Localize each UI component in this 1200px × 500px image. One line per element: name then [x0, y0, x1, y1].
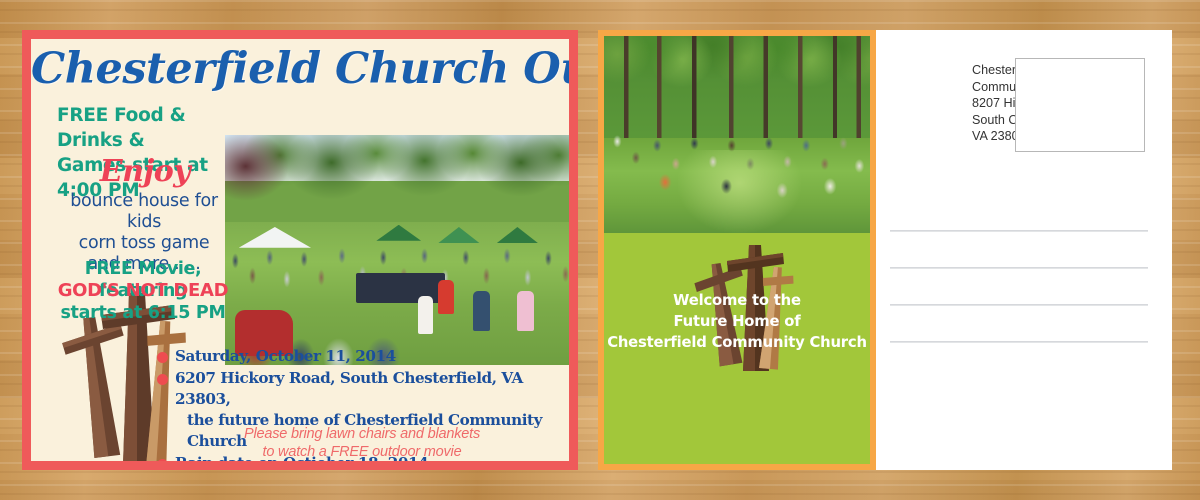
- page-title: Chesterfield Church Outreach: [31, 41, 569, 97]
- address-line: [890, 304, 1148, 306]
- enjoy-script-text: Enjoy: [57, 156, 233, 188]
- list-item: Saturday, October 11, 2014: [157, 346, 567, 367]
- photo-treeline: [225, 135, 569, 227]
- movie-title: GOD'S NOT DEAD: [45, 280, 241, 302]
- movie-start-time: starts at 6:15 PM: [45, 302, 241, 324]
- park-gathering-photo: [604, 36, 870, 233]
- detail-date: Saturday, October 11, 2014: [175, 347, 396, 365]
- detail-address: 6207 Hickory Road, South Chesterfield, V…: [175, 369, 523, 408]
- stamp-area-box: [1015, 58, 1145, 152]
- welcome-message: Welcome to the Future Home of Chesterfie…: [604, 290, 870, 353]
- footnote-text: Please bring lawn chairs and blankets to…: [157, 425, 567, 461]
- postcard-back-image-panel: Welcome to the Future Home of Chesterfie…: [598, 30, 876, 470]
- postcard-mockup-canvas: Chesterfield Church Outreach FREE Fo: [0, 0, 1200, 500]
- postcard-back-address-panel: Chesterfield Community Church 8207 Hicko…: [876, 30, 1172, 470]
- address-line: [890, 267, 1148, 269]
- festival-photo: [225, 135, 569, 365]
- postcard-front-paper: Chesterfield Church Outreach FREE Fo: [31, 39, 569, 461]
- address-line: [890, 341, 1148, 343]
- address-line: [890, 230, 1148, 232]
- photo-seated-crowd: [604, 119, 870, 221]
- welcome-green-panel: Welcome to the Future Home of Chesterfie…: [604, 233, 870, 464]
- postcard-back: Welcome to the Future Home of Chesterfie…: [598, 30, 1172, 470]
- bullet-dot-icon: [157, 352, 168, 363]
- bullet-dot-icon: [157, 374, 168, 385]
- image-panel-inner: Welcome to the Future Home of Chesterfie…: [604, 36, 870, 464]
- recipient-address-lines: [890, 230, 1148, 378]
- postcard-front: Chesterfield Church Outreach FREE Fo: [22, 30, 578, 470]
